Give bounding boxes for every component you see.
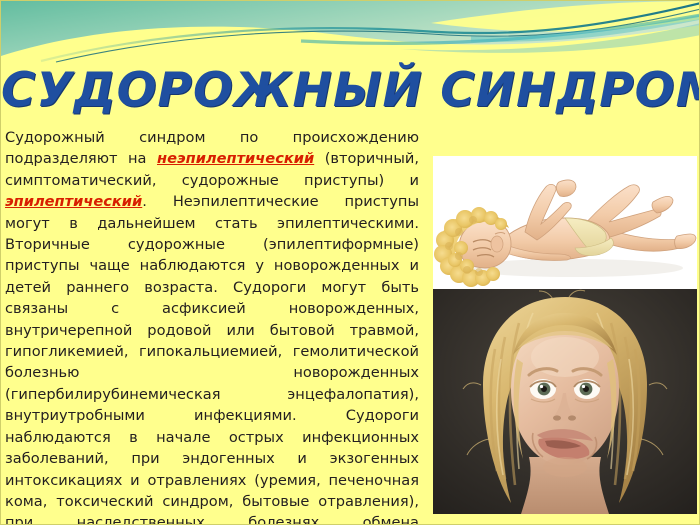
header-wave-graphic: [1, 1, 700, 63]
girl-photo-graphic: [433, 289, 697, 514]
body-text-block: Судорожный синдром по происхождению подр…: [5, 127, 419, 525]
grimacing-girl-photo: [433, 289, 697, 514]
body-text-segment: . Неэпилептические приступы могут в даль…: [5, 193, 419, 525]
presentation-slide: СУДОРОЖНЫЙ СИНДРОМ Судорожный синдром по…: [0, 0, 700, 525]
infant-illustration-graphic: [433, 156, 697, 289]
page-title: СУДОРОЖНЫЙ СИНДРОМ: [1, 61, 700, 121]
highlighted-term-nonepileptic: неэпилептический: [157, 150, 314, 167]
highlighted-term-epileptic: эпилептический: [5, 193, 142, 210]
infant-convulsion-illustration: [433, 156, 697, 289]
body-paragraph: Судорожный синдром по происхождению подр…: [5, 127, 419, 525]
header-decorative-band: [1, 1, 700, 63]
